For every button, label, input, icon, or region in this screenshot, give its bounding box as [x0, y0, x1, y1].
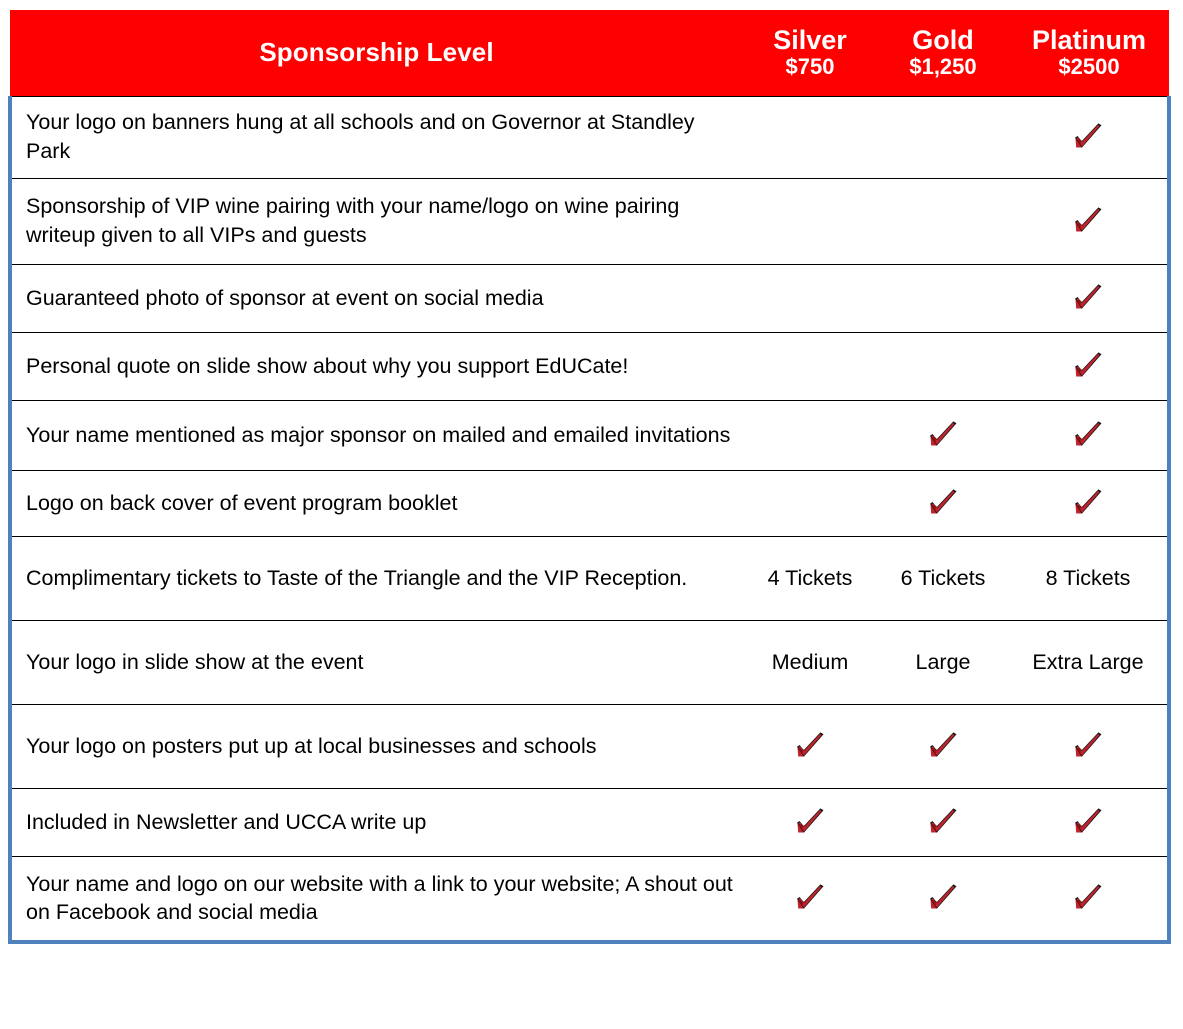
silver-cell — [743, 178, 877, 264]
silver-cell — [743, 856, 877, 942]
gold-cell: 6 Tickets — [877, 536, 1009, 620]
check-mark-icon — [1071, 281, 1105, 315]
benefit-label: Your logo on posters put up at local bus… — [10, 704, 743, 788]
benefit-label: Included in Newsletter and UCCA write up — [10, 788, 743, 856]
table-row: Your logo in slide show at the eventMedi… — [10, 620, 1169, 704]
check-mark-icon — [1071, 120, 1105, 154]
check-mark-icon — [1071, 881, 1105, 915]
table-row: Personal quote on slide show about why y… — [10, 332, 1169, 400]
benefit-label: Logo on back cover of event program book… — [10, 470, 743, 536]
check-mark-icon — [1071, 729, 1105, 763]
platinum-cell — [1009, 856, 1169, 942]
gold-cell — [877, 96, 1009, 178]
gold-cell — [877, 788, 1009, 856]
silver-cell — [743, 400, 877, 470]
check-mark-icon — [1071, 349, 1105, 383]
platinum-value: Extra Large — [1032, 650, 1143, 674]
platinum-cell: Extra Large — [1009, 620, 1169, 704]
check-mark-icon — [1071, 418, 1105, 452]
header-cell-platinum: Platinum $2500 — [1009, 10, 1169, 96]
check-mark-icon — [793, 729, 827, 763]
header-cell-silver: Silver $750 — [743, 10, 877, 96]
check-mark-icon — [1071, 805, 1105, 839]
gold-cell — [877, 400, 1009, 470]
silver-value: Medium — [772, 650, 848, 674]
benefit-label: Personal quote on slide show about why y… — [10, 332, 743, 400]
platinum-tier-price: $2500 — [1009, 55, 1169, 79]
check-mark-icon — [793, 805, 827, 839]
benefit-label: Your name and logo on our website with a… — [10, 856, 743, 942]
silver-cell — [743, 332, 877, 400]
platinum-cell — [1009, 178, 1169, 264]
gold-tier-name: Gold — [877, 26, 1009, 54]
platinum-tier-name: Platinum — [1009, 26, 1169, 54]
gold-cell — [877, 264, 1009, 332]
platinum-cell — [1009, 96, 1169, 178]
silver-cell: 4 Tickets — [743, 536, 877, 620]
check-mark-icon — [1071, 204, 1105, 238]
benefit-label: Your logo in slide show at the event — [10, 620, 743, 704]
table-row: Your logo on banners hung at all schools… — [10, 96, 1169, 178]
platinum-cell — [1009, 400, 1169, 470]
silver-cell: Medium — [743, 620, 877, 704]
gold-cell — [877, 332, 1009, 400]
table-row: Your logo on posters put up at local bus… — [10, 704, 1169, 788]
benefit-label: Your logo on banners hung at all schools… — [10, 96, 743, 178]
sponsorship-level-heading: Sponsorship Level — [259, 37, 493, 67]
silver-cell — [743, 264, 877, 332]
benefit-label: Guaranteed photo of sponsor at event on … — [10, 264, 743, 332]
check-mark-icon — [1071, 486, 1105, 520]
platinum-cell — [1009, 470, 1169, 536]
silver-cell — [743, 96, 877, 178]
check-mark-icon — [926, 486, 960, 520]
table-row: Logo on back cover of event program book… — [10, 470, 1169, 536]
check-mark-icon — [926, 729, 960, 763]
silver-value: 4 Tickets — [768, 566, 853, 590]
table-body: Your logo on banners hung at all schools… — [10, 96, 1169, 942]
check-mark-icon — [926, 805, 960, 839]
benefit-label: Your name mentioned as major sponsor on … — [10, 400, 743, 470]
platinum-cell — [1009, 264, 1169, 332]
header-row: Sponsorship Level Silver $750 Gold $1,25… — [10, 10, 1169, 96]
platinum-value: 8 Tickets — [1046, 566, 1131, 590]
gold-value: 6 Tickets — [901, 566, 986, 590]
table-row: Your name and logo on our website with a… — [10, 856, 1169, 942]
benefit-label: Complimentary tickets to Taste of the Tr… — [10, 536, 743, 620]
gold-value: Large — [916, 650, 971, 674]
header-cell-gold: Gold $1,250 — [877, 10, 1009, 96]
benefit-label: Sponsorship of VIP wine pairing with you… — [10, 178, 743, 264]
gold-cell — [877, 704, 1009, 788]
silver-cell — [743, 704, 877, 788]
table-row: Guaranteed photo of sponsor at event on … — [10, 264, 1169, 332]
gold-cell — [877, 178, 1009, 264]
check-mark-icon — [793, 881, 827, 915]
gold-cell: Large — [877, 620, 1009, 704]
table-row: Included in Newsletter and UCCA write up — [10, 788, 1169, 856]
sponsorship-level-table: Sponsorship Level Silver $750 Gold $1,25… — [8, 10, 1171, 944]
check-mark-icon — [926, 418, 960, 452]
silver-cell — [743, 788, 877, 856]
header-cell-level: Sponsorship Level — [10, 10, 743, 96]
sponsorship-table-page: Sponsorship Level Silver $750 Gold $1,25… — [0, 0, 1183, 1029]
table-header: Sponsorship Level Silver $750 Gold $1,25… — [10, 10, 1169, 96]
check-mark-icon — [926, 881, 960, 915]
table-row: Sponsorship of VIP wine pairing with you… — [10, 178, 1169, 264]
gold-tier-price: $1,250 — [877, 55, 1009, 79]
gold-cell — [877, 856, 1009, 942]
table-row: Complimentary tickets to Taste of the Tr… — [10, 536, 1169, 620]
table-row: Your name mentioned as major sponsor on … — [10, 400, 1169, 470]
platinum-cell — [1009, 332, 1169, 400]
silver-cell — [743, 470, 877, 536]
platinum-cell: 8 Tickets — [1009, 536, 1169, 620]
silver-tier-price: $750 — [743, 55, 877, 79]
silver-tier-name: Silver — [743, 26, 877, 54]
platinum-cell — [1009, 788, 1169, 856]
gold-cell — [877, 470, 1009, 536]
platinum-cell — [1009, 704, 1169, 788]
